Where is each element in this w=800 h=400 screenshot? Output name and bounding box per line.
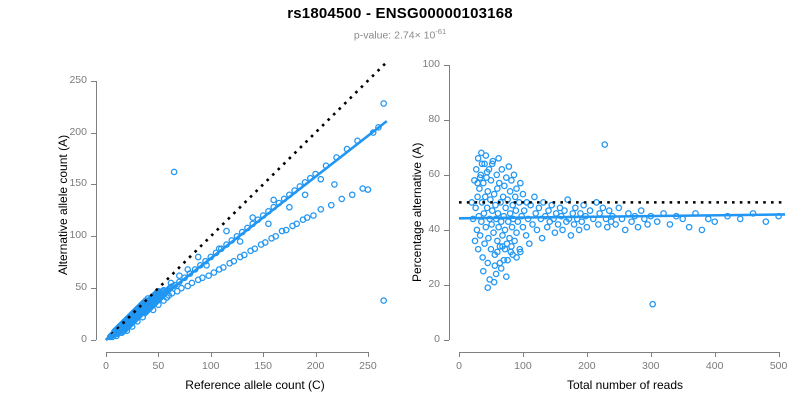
data-point (514, 186, 519, 191)
data-point (491, 230, 496, 235)
data-point (481, 180, 486, 185)
data-point (474, 167, 479, 172)
data-point (483, 194, 488, 199)
data-point (504, 274, 509, 279)
data-point (530, 222, 535, 227)
data-point (712, 219, 717, 224)
data-point (483, 153, 488, 158)
data-point (516, 200, 521, 205)
data-point (576, 227, 581, 232)
data-point (562, 208, 567, 213)
data-point (490, 208, 495, 213)
data-point (506, 164, 511, 169)
data-point (497, 180, 502, 185)
data-point (514, 255, 519, 260)
data-point (475, 246, 480, 251)
data-point (594, 200, 599, 205)
data-point (560, 227, 565, 232)
data-point (573, 205, 578, 210)
data-point (613, 222, 618, 227)
data-point (667, 222, 672, 227)
data-point (532, 194, 537, 199)
data-point (504, 175, 509, 180)
data-point (511, 172, 516, 177)
data-point (505, 257, 510, 262)
data-point (485, 285, 490, 290)
data-point (479, 219, 484, 224)
data-point (491, 280, 496, 285)
data-point (488, 246, 493, 251)
data-point (492, 263, 497, 268)
data-point (491, 191, 496, 196)
data-point (509, 178, 514, 183)
data-point (513, 194, 518, 199)
data-point (486, 235, 491, 240)
data-point (477, 233, 482, 238)
data-point (482, 241, 487, 246)
data-point (605, 224, 610, 229)
data-point (654, 219, 659, 224)
data-point (600, 205, 605, 210)
data-layer (0, 0, 800, 400)
data-point (494, 172, 499, 177)
data-point (489, 222, 494, 227)
data-point (536, 205, 541, 210)
data-point (514, 230, 519, 235)
data-point (515, 219, 520, 224)
data-point (570, 211, 575, 216)
data-point (474, 227, 479, 232)
data-point (499, 167, 504, 172)
data-point (520, 224, 525, 229)
data-point (623, 227, 628, 232)
data-point (607, 208, 612, 213)
data-point (509, 224, 514, 229)
data-point (513, 208, 518, 213)
figure-canvas: rs1804500 - ENSG00000103168 p-value: 2.7… (0, 0, 800, 400)
data-point (493, 202, 498, 207)
data-point (475, 156, 480, 161)
data-point (518, 180, 523, 185)
data-point (475, 194, 480, 199)
data-point (523, 233, 528, 238)
data-point (699, 227, 704, 232)
data-point (495, 211, 500, 216)
data-point (629, 219, 634, 224)
data-point (552, 230, 557, 235)
data-point (481, 268, 486, 273)
data-point (645, 222, 650, 227)
data-point (483, 224, 488, 229)
data-point (578, 211, 583, 216)
data-point (472, 238, 477, 243)
data-point (477, 186, 482, 191)
data-point (495, 238, 500, 243)
data-point (496, 156, 501, 161)
data-point (587, 208, 592, 213)
data-point (522, 208, 527, 213)
data-point (502, 227, 507, 232)
data-point (493, 271, 498, 276)
data-point (500, 233, 505, 238)
data-point (534, 227, 539, 232)
data-point (616, 205, 621, 210)
data-point (555, 222, 560, 227)
data-point (520, 191, 525, 196)
data-point (485, 189, 490, 194)
data-point (763, 219, 768, 224)
data-point (473, 205, 478, 210)
data-point (496, 224, 501, 229)
data-point (503, 205, 508, 210)
data-point (579, 219, 584, 224)
data-point (509, 244, 514, 249)
data-point (539, 235, 544, 240)
data-point (546, 208, 551, 213)
data-point (584, 224, 589, 229)
data-point (527, 241, 532, 246)
data-point (635, 224, 640, 229)
data-point (553, 211, 558, 216)
data-point (571, 222, 576, 227)
data-point (507, 211, 512, 216)
data-point (602, 142, 607, 147)
panel-right: 0204060801000100200300400500Total number… (0, 0, 800, 400)
data-point (706, 216, 711, 221)
data-point (738, 216, 743, 221)
data-point (506, 219, 511, 224)
data-point (533, 211, 538, 216)
data-point (484, 205, 489, 210)
data-point (545, 224, 550, 229)
data-point (568, 233, 573, 238)
data-point (495, 186, 500, 191)
data-point (638, 208, 643, 213)
data-point (498, 266, 503, 271)
data-point (507, 235, 512, 240)
data-point (480, 255, 485, 260)
data-point (597, 211, 602, 216)
data-point (469, 200, 474, 205)
data-point (481, 211, 486, 216)
data-point (686, 224, 691, 229)
data-point (498, 219, 503, 224)
data-point (507, 189, 512, 194)
data-point (512, 238, 517, 243)
data-point (497, 260, 502, 265)
data-point (650, 302, 655, 307)
data-point (485, 260, 490, 265)
data-point (596, 222, 601, 227)
data-point (488, 178, 493, 183)
data-point (502, 183, 507, 188)
